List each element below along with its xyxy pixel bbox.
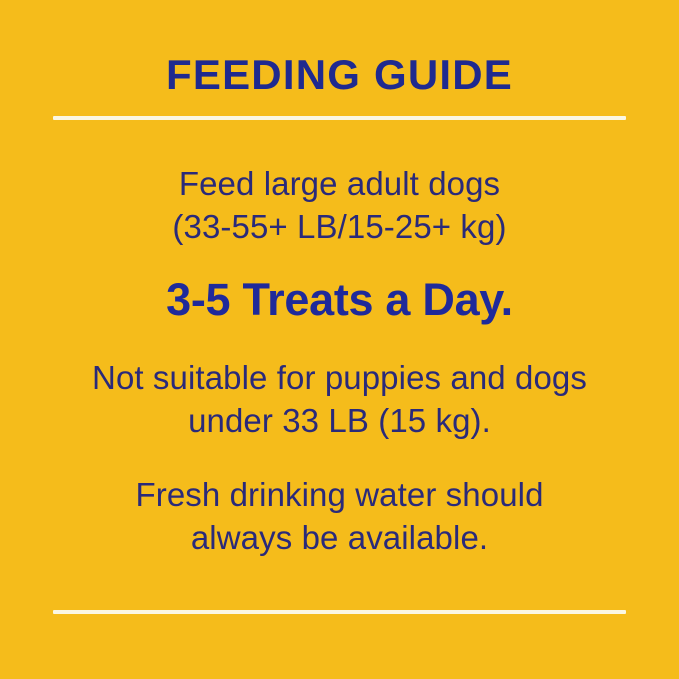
fresh-water-line-1: Fresh drinking water should (0, 474, 679, 517)
fresh-water-text: Fresh drinking water should always be av… (0, 474, 679, 560)
fresh-water-line-2: always be available. (0, 517, 679, 560)
not-suitable-warning-text: Not suitable for puppies and dogs under … (0, 357, 679, 443)
treats-per-day-headline: 3-5 Treats a Day. (0, 275, 679, 325)
feeding-amount-line-1: Feed large adult dogs (0, 163, 679, 206)
feeding-amount-line-2: (33-55+ LB/15-25+ kg) (0, 206, 679, 249)
not-suitable-line-1: Not suitable for puppies and dogs (0, 357, 679, 400)
feeding-amount-text: Feed large adult dogs (33-55+ LB/15-25+ … (0, 163, 679, 249)
divider-top (53, 116, 626, 120)
not-suitable-line-2: under 33 LB (15 kg). (0, 400, 679, 443)
page-title: FEEDING GUIDE (0, 53, 679, 97)
divider-bottom (53, 610, 626, 614)
feeding-guide-panel: FEEDING GUIDE Feed large adult dogs (33-… (0, 0, 679, 679)
